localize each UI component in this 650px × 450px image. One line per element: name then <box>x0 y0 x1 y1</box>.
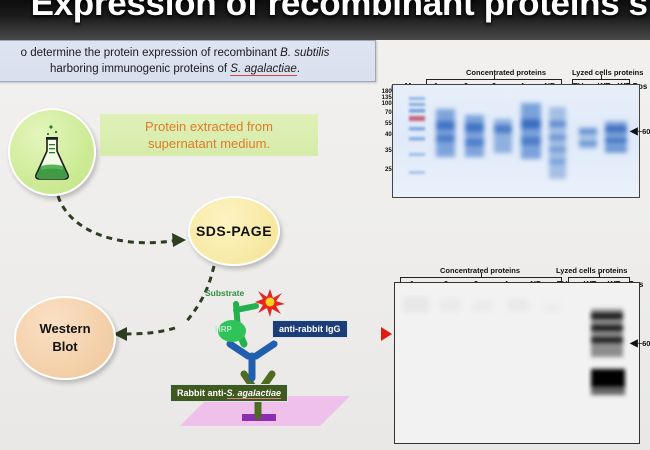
callout-line-1: Protein extracted from <box>145 118 273 135</box>
protein-extraction-callout: Protein extracted from supernatant mediu… <box>100 114 318 156</box>
sds-page-node: SDS-PAGE <box>188 196 280 266</box>
substrate-label: Substrate <box>205 288 244 298</box>
objective-line-1: o determine the protein expression of re… <box>21 45 330 61</box>
blot-group-right: Lyzed cells proteins <box>556 266 627 275</box>
slide-title-bar: Expression of recombinant proteins s <box>0 0 650 40</box>
ladder-lane <box>409 97 425 174</box>
red-triangle-marker-icon <box>381 327 392 341</box>
flask-node <box>8 108 96 196</box>
blot-group-left: Concentrated proteins <box>440 266 520 275</box>
western-blot-image <box>394 282 640 444</box>
western-blot-label-2: Blot <box>52 338 77 356</box>
antibody-sandwich-diagram <box>170 286 360 450</box>
objective-line-1-text: o determine the protein expression of re… <box>21 47 281 59</box>
gel-top-bracket-left-stem <box>494 75 495 80</box>
gel-top-bracket-right-stem <box>601 75 602 80</box>
objective-species-2: S. agalactiae <box>230 63 297 76</box>
blot-bracket-left-stem <box>481 273 482 278</box>
primary-antibody-species: S. agalactiae <box>227 388 282 399</box>
secondary-antibody-label: anti-rabbit IgG <box>272 320 348 338</box>
lane-3-bands <box>494 119 512 153</box>
gel-top-group-left: Concentrated proteins <box>466 68 546 77</box>
gel-top-group-right: Lyzed cells proteins <box>572 68 643 77</box>
lane-2-bands <box>465 115 484 157</box>
blot-bracket-right-stem <box>599 273 600 278</box>
objective-species-1: B. subtilis <box>280 47 329 59</box>
hrp-enzyme-icon <box>218 304 256 344</box>
page-title: Expression of recombinant proteins <box>31 0 620 24</box>
lane-1-bands <box>436 109 455 157</box>
callout-line-2: supernatant medium. <box>148 135 270 152</box>
title-edge-fragment: s <box>629 0 648 24</box>
gel-top-band-arrow: ◀~60 <box>630 126 650 137</box>
lane-ev-bands <box>579 127 597 149</box>
starburst-icon <box>255 289 285 317</box>
western-blot-node: Western Blot <box>14 296 116 380</box>
primary-antibody-label: Rabbit anti-S. agalactiae <box>170 384 288 402</box>
lane-4-bands <box>521 103 541 159</box>
erlenmeyer-flask-icon <box>29 123 75 181</box>
objective-line-2-text: harboring immunogenic proteins of <box>50 63 230 75</box>
gel-bands <box>393 85 639 197</box>
sds-page-gel-image <box>392 84 640 198</box>
blot-band-arrow: ◀~60 <box>630 338 650 349</box>
lane-wt-bands <box>605 121 627 153</box>
secondary-antibody-icon <box>230 344 274 378</box>
pos-lane-bands <box>591 309 625 395</box>
lane-nd-bands <box>549 107 566 179</box>
hrp-label: HRP <box>215 325 232 334</box>
slide-canvas: Expression of recombinant proteins s o d… <box>0 0 650 450</box>
objective-line-2: harboring immunogenic proteins of S. aga… <box>50 61 300 77</box>
primary-antibody-label-text: Rabbit anti- <box>177 388 227 398</box>
objective-textbox: o determine the protein expression of re… <box>0 40 376 82</box>
objective-period: . <box>297 63 300 75</box>
western-blot-label-1: Western <box>39 320 90 338</box>
blot-bands <box>395 283 639 443</box>
sds-page-label: SDS-PAGE <box>196 223 272 239</box>
